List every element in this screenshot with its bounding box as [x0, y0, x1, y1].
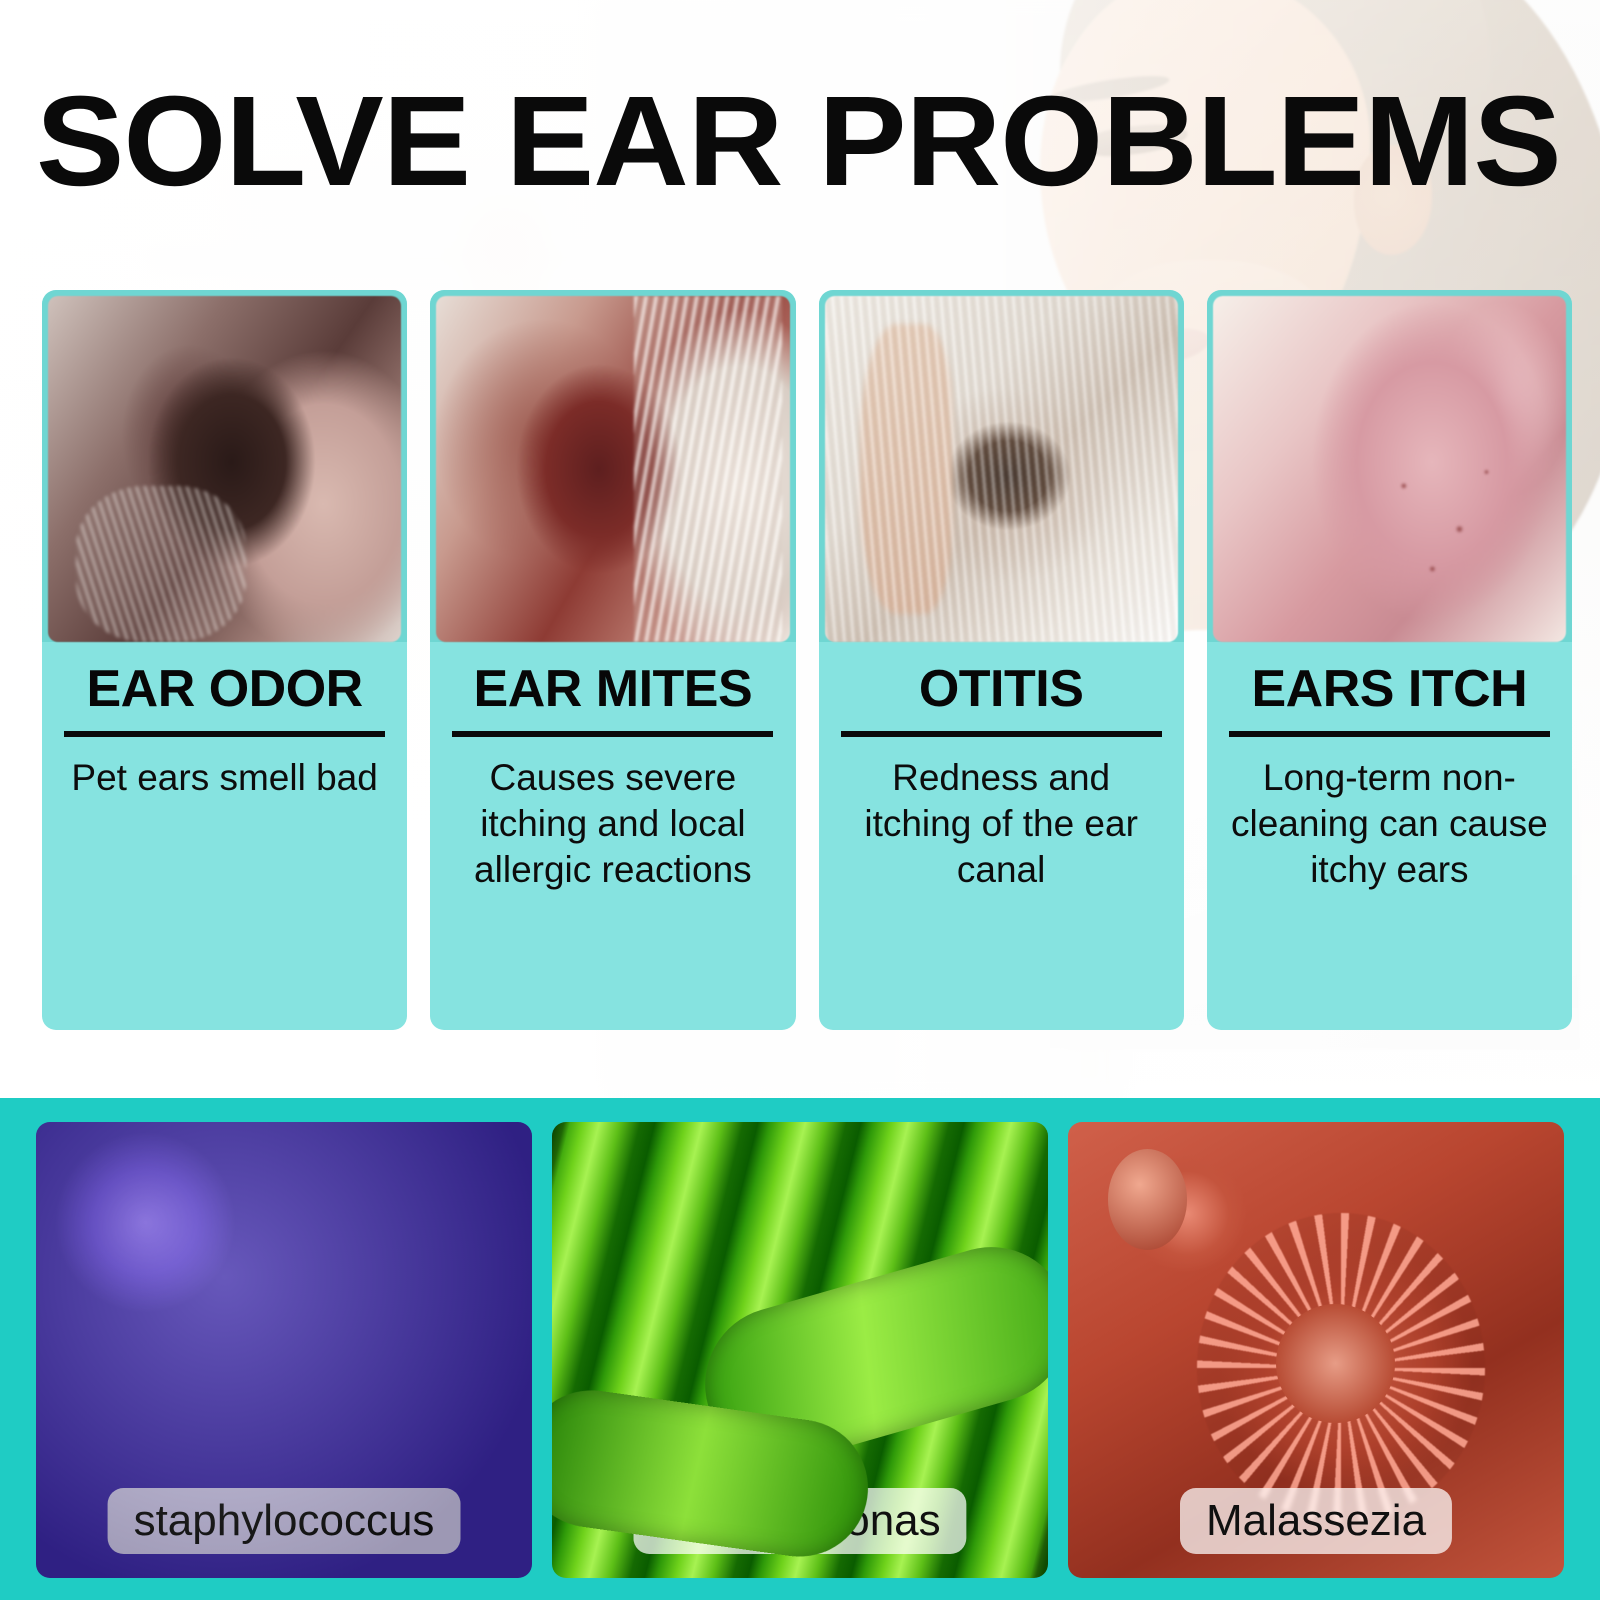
microbe-list: staphylococcus Pseudomonas Malassezia — [36, 1122, 1564, 1578]
malassezia-bud — [1108, 1149, 1187, 1249]
card-body: EARS ITCH Long-term non-cleaning can cau… — [1207, 642, 1572, 1030]
card-title: EAR MITES — [474, 662, 753, 717]
card-description: Redness and itching of the ear canal — [841, 755, 1161, 893]
page-title: SOLVE EAR PROBLEMS — [36, 78, 1600, 206]
microbe-label: staphylococcus — [108, 1488, 461, 1554]
card-body: OTITIS Redness and itching of the ear ca… — [819, 642, 1184, 1030]
ear-mites-photo — [436, 296, 789, 642]
microbe-band: staphylococcus Pseudomonas Malassezia — [0, 1098, 1600, 1600]
microbe-malassezia: Malassezia — [1068, 1122, 1564, 1578]
poster-root: SOLVE EAR PROBLEMS EAR ODOR Pet ears sme… — [0, 0, 1600, 1600]
card-title: EAR ODOR — [87, 662, 363, 717]
card-divider — [452, 731, 773, 737]
problem-card-ear-odor: EAR ODOR Pet ears smell bad — [42, 290, 407, 1030]
card-body: EAR MITES Causes severe itching and loca… — [430, 642, 795, 1030]
microbe-pseudomonas: Pseudomonas — [552, 1122, 1048, 1578]
card-divider — [841, 731, 1162, 737]
ear-odor-photo — [48, 296, 401, 642]
otitis-photo — [825, 296, 1178, 642]
card-title: OTITIS — [919, 662, 1084, 717]
card-title: EARS ITCH — [1252, 662, 1528, 717]
card-body: EAR ODOR Pet ears smell bad — [42, 642, 407, 1030]
card-description: Causes severe itching and local allergic… — [453, 755, 773, 893]
card-divider — [64, 731, 385, 737]
problem-card-otitis: OTITIS Redness and itching of the ear ca… — [819, 290, 1184, 1030]
problem-card-list: EAR ODOR Pet ears smell bad EAR MITES Ca… — [42, 290, 1572, 1030]
problem-card-ear-mites: EAR MITES Causes severe itching and loca… — [430, 290, 795, 1030]
card-photo-frame — [1207, 290, 1572, 642]
card-description: Long-term non-cleaning can cause itchy e… — [1229, 755, 1549, 893]
card-photo-frame — [819, 290, 1184, 642]
card-divider — [1229, 731, 1550, 737]
microbe-staphylococcus: staphylococcus — [36, 1122, 532, 1578]
problem-card-ears-itch: EARS ITCH Long-term non-cleaning can cau… — [1207, 290, 1572, 1030]
microbe-label: Malassezia — [1180, 1488, 1452, 1554]
ears-itch-photo — [1213, 296, 1566, 642]
card-description: Pet ears smell bad — [71, 755, 377, 801]
microbe-label: Pseudomonas — [633, 1488, 966, 1554]
card-photo-frame — [430, 290, 795, 642]
card-photo-frame — [42, 290, 407, 642]
